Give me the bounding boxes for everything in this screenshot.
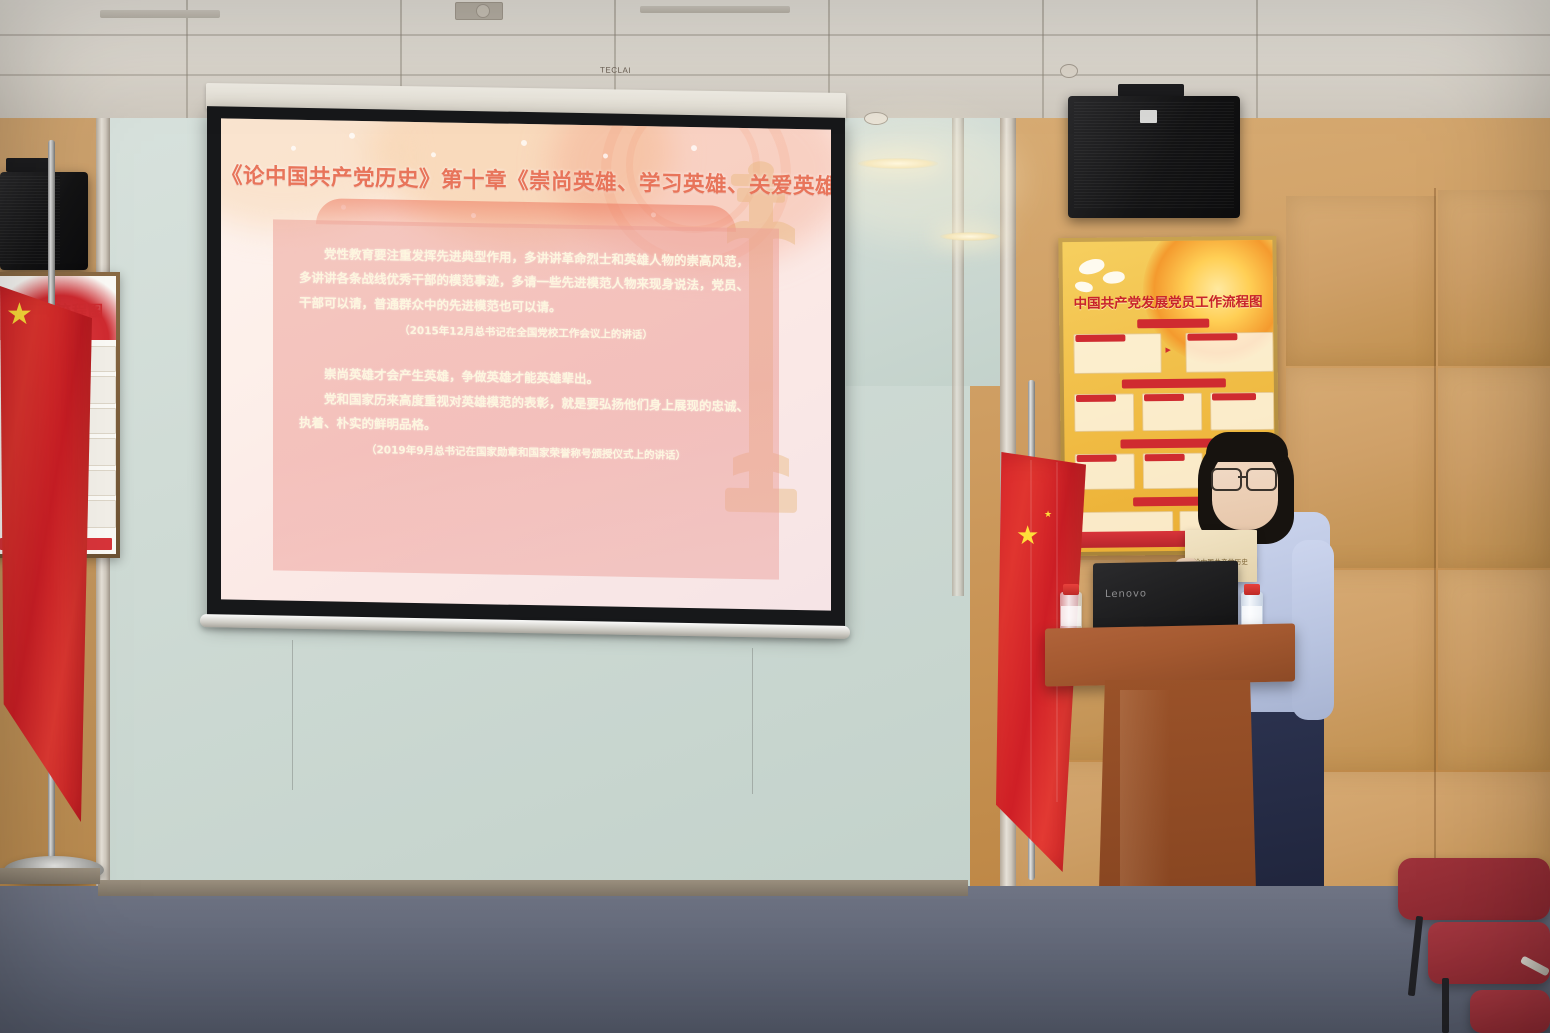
slide-speckle	[291, 146, 296, 151]
poster-section-header	[1122, 378, 1226, 388]
ceiling-light-icon	[940, 232, 1000, 241]
wood-panel	[1438, 570, 1550, 770]
poster-step-label	[1145, 454, 1185, 461]
speaker-logo	[1140, 110, 1157, 123]
baseboard	[0, 868, 100, 884]
bottle-label	[1242, 606, 1262, 626]
projected-slide: 《论中国共产党历史》第十章《崇尚英雄、学习英雄、关爱英雄》 党性教育要注重发挥先…	[221, 118, 831, 610]
poster-step-label	[1076, 395, 1116, 402]
star-icon: ★	[1016, 522, 1039, 548]
chair-seat	[1428, 922, 1550, 984]
laptop[interactable]: Lenovo	[1093, 561, 1238, 630]
arrow-icon: ▶	[1165, 347, 1170, 354]
slide-speckle	[349, 133, 355, 139]
speaker-bracket	[6, 158, 54, 172]
wood-panel	[1438, 190, 1550, 366]
screen-cord	[292, 640, 293, 790]
slide-citation-2: （2019年9月总书记在国家勋章和国家荣誉称号颁授仪式上的讲话）	[299, 441, 753, 464]
slide-speckle	[431, 152, 436, 157]
ceiling-smoke-detector	[864, 112, 888, 125]
ceiling-light-icon	[858, 158, 938, 169]
chair-backrest	[1398, 858, 1550, 920]
bottle-cap	[1063, 584, 1079, 595]
slide-speckle	[603, 153, 608, 158]
pillar-right-edge	[952, 76, 964, 596]
ceiling-air-slot	[100, 10, 220, 18]
podium-top	[1045, 623, 1295, 686]
wood-panel	[1438, 368, 1550, 568]
slide-paragraph-1: 党性教育要注重发挥先进典型作用，多讲讲革命烈士和英雄人物的崇高风范，多讲讲各条战…	[299, 242, 753, 323]
laptop-brand-logo: Lenovo	[1105, 588, 1147, 600]
floor-carpet	[0, 886, 1550, 1033]
slide-text-panel: 党性教育要注重发挥先进典型作用，多讲讲革命烈士和英雄人物的崇高风范，多讲讲各条战…	[273, 219, 779, 579]
star-icon: ★	[1044, 510, 1052, 519]
dove-icon	[1102, 270, 1126, 285]
poster-step-label	[1212, 393, 1256, 400]
ceiling-grid-line	[1042, 0, 1044, 118]
chair-seat	[1470, 990, 1550, 1033]
glasses-bridge	[1238, 476, 1246, 478]
ceiling-grid-line	[1256, 0, 1258, 118]
wood-panel	[1286, 196, 1436, 366]
presenter-glasses	[1246, 468, 1277, 491]
ceiling-grid-line	[0, 74, 1550, 76]
flag-fold	[1030, 460, 1032, 840]
slide-speckle	[691, 145, 697, 151]
dove-icon	[1077, 256, 1106, 277]
lecture-hall-photo: TECLAI	[0, 0, 1550, 1033]
slide-paragraph-2b: 党和国家历来高度重视对英雄模范的表彰，就是要弘扬他们身上展现的忠诚、执着、朴实的…	[299, 386, 753, 443]
screen-brand-label: TECLAI	[600, 65, 660, 78]
presenter-hair-fringe	[1206, 432, 1288, 462]
baseboard	[98, 880, 968, 896]
projection-screen: 《论中国共产党历史》第十章《崇尚英雄、学习英雄、关爱英雄》 党性教育要注重发挥先…	[207, 106, 845, 633]
star-icon: ★	[6, 300, 33, 330]
poster-title: 中国共产党发展党员工作流程图	[1063, 290, 1273, 312]
bottle-label	[1061, 606, 1081, 626]
screen-cord	[752, 648, 753, 794]
ceiling-grid-line	[0, 34, 1550, 36]
slide-speckle	[521, 140, 527, 146]
ceiling-sprinkler	[1060, 64, 1078, 78]
poster-step-label	[1075, 334, 1125, 342]
panel-seam	[1434, 188, 1436, 914]
bottle-cap	[1244, 584, 1260, 595]
poster-step-label	[1187, 333, 1237, 341]
chair-leg	[1442, 978, 1449, 1033]
poster-step-label	[1077, 455, 1117, 462]
presenter-glasses	[1211, 468, 1242, 491]
ceiling-air-slot	[640, 6, 790, 13]
poster-section-header	[1137, 319, 1209, 329]
presenter-sleeve	[1292, 540, 1334, 720]
ceiling-sprinkler	[476, 4, 490, 18]
poster-step-label	[1144, 394, 1184, 401]
